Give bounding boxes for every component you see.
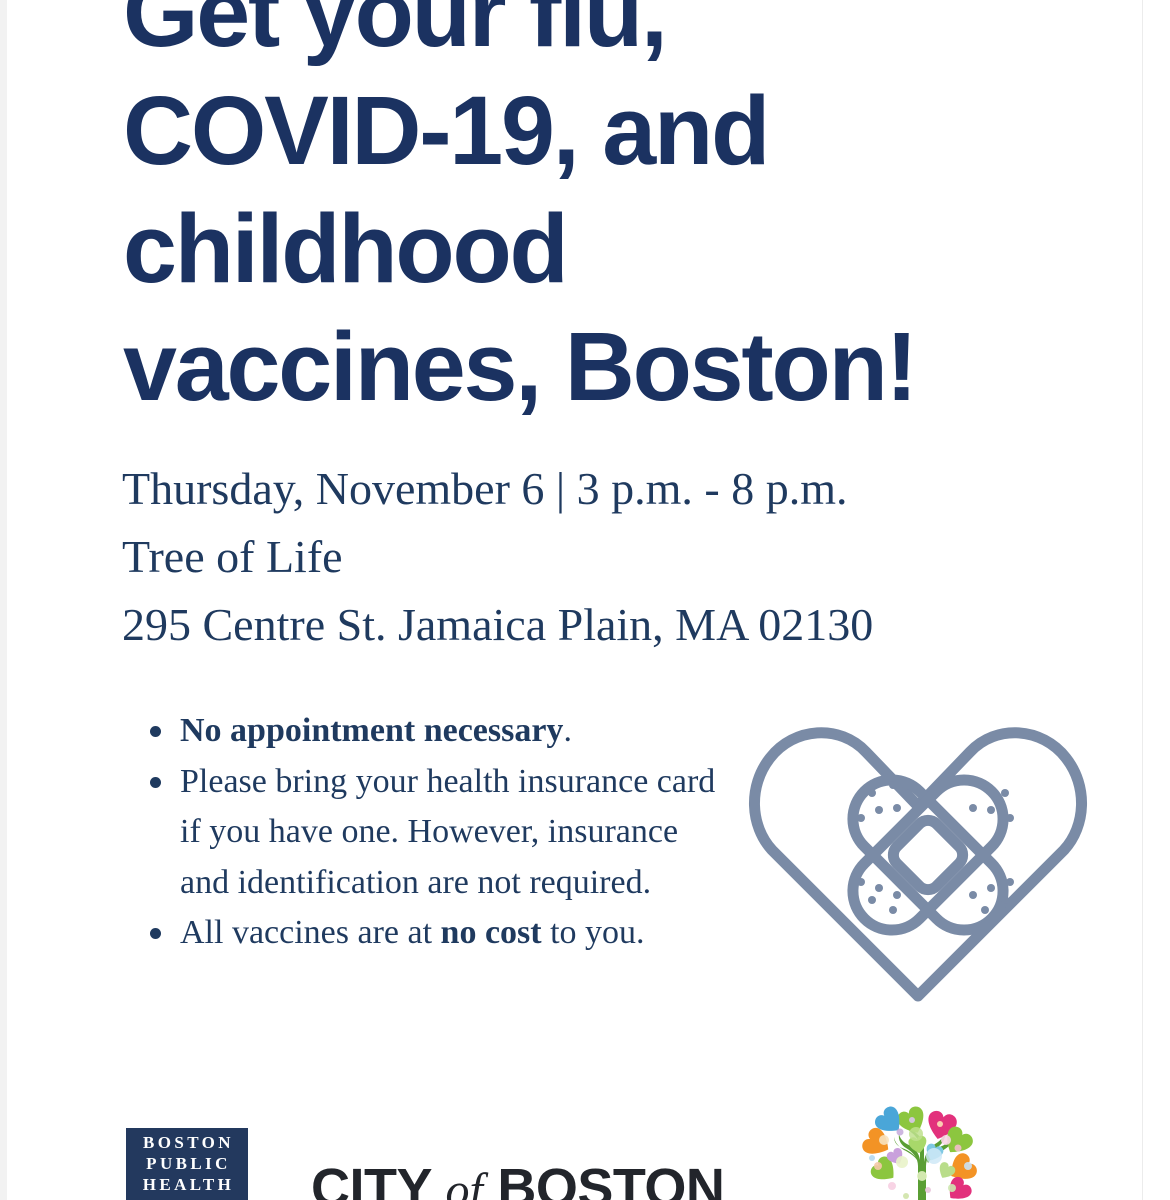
flyer-headline: Get your flu, COVID-19, and childhood va…	[123, 0, 1113, 426]
city-word-3: BOSTON	[497, 1158, 724, 1200]
city-word-2: of	[446, 1164, 483, 1200]
event-address: 295 Centre St. Jamaica Plain, MA 02130	[122, 591, 1062, 659]
list-item: No appointment necessary.	[148, 706, 728, 757]
bullet-1-bold: No appointment necessary	[180, 712, 563, 749]
bullet-3-bold: no cost	[441, 914, 542, 951]
flyer-page: Get your flu, COVID-19, and childhood va…	[0, 0, 1170, 1200]
event-venue: Tree of Life	[122, 523, 1062, 591]
bullet-3-head: All vaccines are at	[180, 914, 441, 951]
list-item: All vaccines are at no cost to you.	[148, 908, 728, 959]
list-item: Please bring your health insurance card …	[148, 757, 728, 909]
headline-line-4: vaccines, Boston!	[123, 308, 1113, 426]
info-bullet-list: No appointment necessary. Please bring y…	[148, 706, 728, 959]
bphc-line-3: HEALTH	[126, 1175, 248, 1195]
heart-with-crossed-bandages-icon	[742, 700, 1094, 1012]
headline-line-1: Get your flu,	[123, 0, 1113, 72]
bphc-line-2: PUBLIC	[126, 1154, 248, 1174]
tree-of-life-heart-leaves-icon	[856, 1100, 992, 1200]
bullet-3-tail: to you.	[542, 914, 645, 951]
right-edge-strip	[1142, 0, 1170, 1200]
event-details: Thursday, November 6 | 3 p.m. - 8 p.m. T…	[122, 455, 1062, 659]
left-edge-strip	[0, 0, 7, 1200]
event-datetime: Thursday, November 6 | 3 p.m. - 8 p.m.	[122, 455, 1062, 523]
headline-line-2: COVID-19, and	[123, 72, 1113, 190]
bullet-2-text: Please bring your health insurance card …	[180, 763, 715, 901]
bullet-1-tail: .	[563, 712, 572, 749]
city-of-boston-logo: CITY of BOSTON	[311, 1159, 724, 1200]
boston-public-health-commission-logo: BOSTON PUBLIC HEALTH COMMISSION	[126, 1128, 248, 1200]
headline-line-3: childhood	[123, 190, 1113, 308]
city-word-1: CITY	[311, 1158, 431, 1200]
bphc-line-1: BOSTON	[126, 1133, 248, 1153]
